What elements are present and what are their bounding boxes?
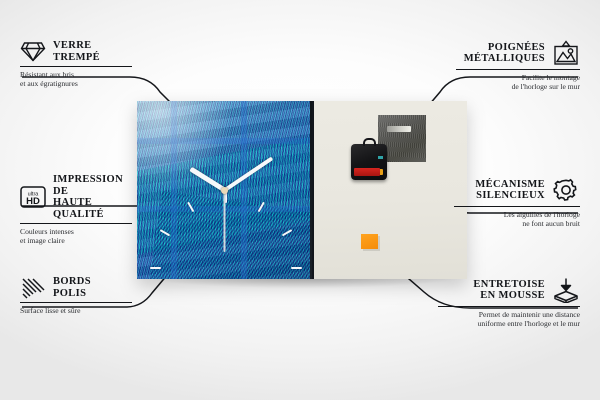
mechanism-detail bbox=[378, 156, 383, 159]
callout-subtitle: Surface lisse et sûre bbox=[20, 306, 132, 315]
face-sheen bbox=[137, 101, 235, 194]
callout-header: MÉCANISME SILENCIEUX bbox=[454, 177, 580, 203]
callout-subtitle: Permet de maintenir une distance uniform… bbox=[438, 310, 580, 329]
callout-rule bbox=[20, 223, 132, 224]
callout-entretoise-en-mousse[interactable]: ENTRETOISE EN MOUSSE Permet de maintenir… bbox=[438, 277, 580, 329]
callout-header: POIGNÉES MÉTALLIQUES bbox=[456, 40, 580, 66]
product-image bbox=[137, 101, 467, 279]
callout-title: BORDS POLIS bbox=[53, 276, 91, 299]
ultra-hd-large-text: HD bbox=[26, 196, 40, 207]
callout-title: VERRE TREMPÉ bbox=[53, 40, 100, 63]
callout-subtitle: Couleurs intenses et image claire bbox=[20, 227, 132, 246]
battery bbox=[354, 168, 380, 176]
clock-mechanism bbox=[351, 144, 387, 180]
callout-rule bbox=[20, 302, 132, 303]
callout-header: BORDS POLIS bbox=[20, 276, 132, 299]
callout-header: VERRE TREMPÉ bbox=[20, 40, 132, 63]
callout-title: MÉCANISME SILENCIEUX bbox=[475, 179, 545, 202]
product-shadow bbox=[152, 278, 452, 288]
callout-header: ultra HD IMPRESSION DE HAUTE QUALITÉ bbox=[20, 174, 132, 220]
clock-center-pin bbox=[221, 187, 228, 194]
callout-rule bbox=[456, 69, 580, 70]
callout-poignees-metalliques[interactable]: POIGNÉES MÉTALLIQUES Facilite le montage… bbox=[456, 40, 580, 92]
callout-title: ENTRETOISE EN MOUSSE bbox=[473, 279, 545, 302]
callout-subtitle: Facilite le montage de l'horloge sur le … bbox=[456, 73, 580, 92]
clock-second-hand bbox=[224, 190, 226, 252]
clock-face bbox=[137, 101, 312, 279]
face-gridline-v2 bbox=[241, 101, 247, 279]
callout-verre-trempe[interactable]: VERRE TREMPÉ Résistant aux bris et aux é… bbox=[20, 40, 132, 89]
callout-bords-polis[interactable]: BORDS POLIS Surface lisse et sûre bbox=[20, 276, 132, 315]
gear-icon bbox=[552, 177, 580, 203]
callout-subtitle: Résistant aux bris et aux égratignures bbox=[20, 70, 132, 89]
callout-rule bbox=[20, 66, 132, 67]
callout-rule bbox=[454, 206, 580, 207]
polished-edges-icon bbox=[20, 277, 46, 299]
callout-impression-haute-qualite[interactable]: ultra HD IMPRESSION DE HAUTE QUALITÉ Cou… bbox=[20, 174, 132, 246]
clock-tick bbox=[148, 267, 226, 269]
diamond-icon bbox=[20, 41, 46, 62]
callout-rule bbox=[438, 306, 580, 307]
ultra-hd-badge-icon: ultra HD bbox=[20, 185, 46, 209]
callout-title: POIGNÉES MÉTALLIQUES bbox=[464, 42, 545, 65]
clock-tick bbox=[226, 267, 304, 269]
infographic-stage: VERRE TREMPÉ Résistant aux bris et aux é… bbox=[0, 0, 600, 400]
callout-title: IMPRESSION DE HAUTE QUALITÉ bbox=[53, 174, 132, 220]
callout-header: ENTRETOISE EN MOUSSE bbox=[438, 277, 580, 303]
picture-frame-hanger-icon bbox=[552, 40, 580, 66]
mechanism-hanger-loop bbox=[363, 138, 376, 146]
clock-back-panel bbox=[312, 101, 467, 279]
callout-subtitle: Les aiguilles de l'horloge ne font aucun… bbox=[454, 210, 580, 229]
foam-spacer-arrow-icon bbox=[552, 277, 580, 303]
callout-mecanisme-silencieux[interactable]: MÉCANISME SILENCIEUX Les aiguilles de l'… bbox=[454, 177, 580, 229]
hanger-slot bbox=[387, 126, 411, 132]
foam-spacer bbox=[361, 234, 378, 249]
